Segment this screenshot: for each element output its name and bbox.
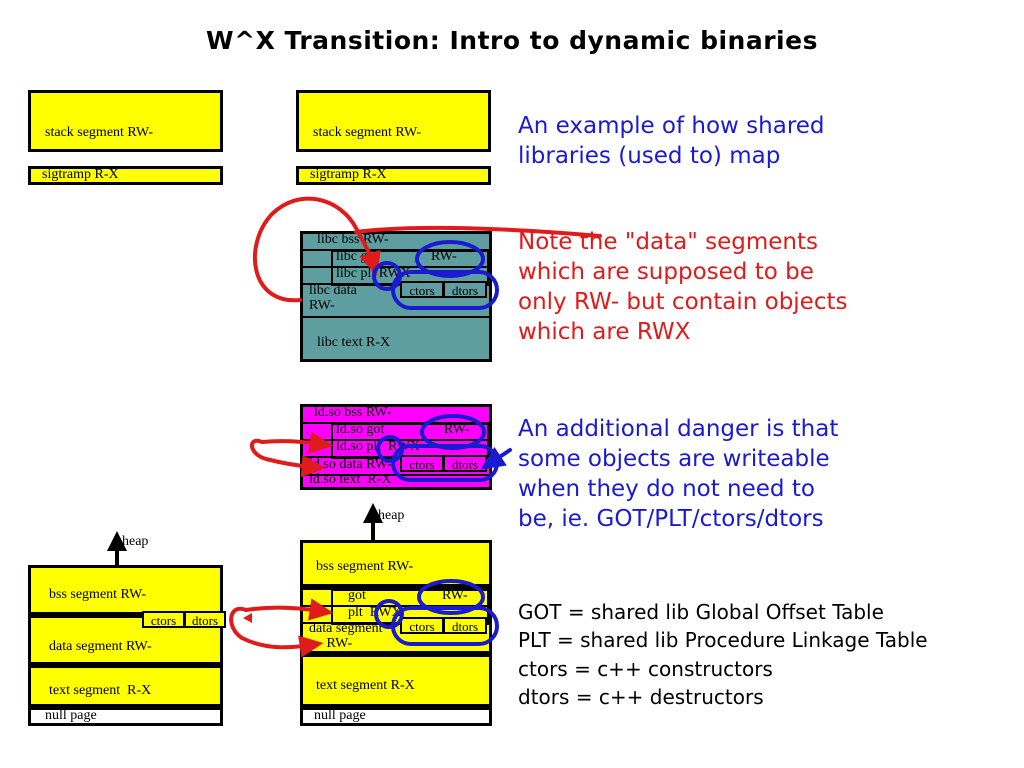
ldso-dtors-box: dtors (443, 455, 487, 472)
note-data-segments: Note the "data" segments which are suppo… (518, 228, 847, 348)
mid-dtors-label: dtors (452, 619, 478, 634)
libc-ctors-box: ctors (400, 281, 444, 298)
mid-sigtramp-block: sigtramp R-X (296, 166, 491, 185)
ldso-text-label: ld.so text R-X (309, 473, 391, 488)
mid-text-segment-label: text segment R-X (316, 679, 415, 694)
left-dtors-box: dtors (184, 611, 226, 628)
libc-dtors-box: dtors (443, 281, 487, 298)
left-text-segment-block: text segment R-X (28, 665, 223, 707)
libc-text-row: libc text R-X (303, 318, 489, 359)
mid-null-page-block: null page (300, 707, 492, 726)
ldso-ctors-box: ctors (400, 455, 444, 472)
mid-data-segment-label: data segment RW- (309, 622, 382, 651)
mid-bss-segment-label: bss segment RW- (316, 560, 413, 575)
libc-data-label: libc data RW- (309, 284, 357, 313)
left-heap-label: heap (122, 534, 148, 550)
left-bss-segment-label: bss segment RW- (49, 588, 146, 603)
left-bss-segment-block: bss segment RW- (28, 565, 223, 615)
left-stack-segment-label: stack segment RW- (45, 126, 153, 141)
legend-abbreviations: GOT = shared lib Global Offset Table PLT… (518, 598, 928, 712)
ldso-data-label: ld.so data RW- (309, 458, 392, 473)
libc-dtors-label: dtors (452, 283, 478, 298)
mid-ctors-label: ctors (409, 619, 434, 634)
left-null-page-label: null page (45, 709, 97, 724)
mid-heap-label: heap (378, 508, 404, 524)
left-text-segment-label: text segment R-X (49, 684, 151, 699)
left-dtors-label: dtors (192, 613, 218, 628)
ldso-bss-label: ld.so bss RW- (314, 406, 391, 421)
ldso-text-row: ld.so text R-X (303, 476, 489, 489)
left-stack-segment-block: stack segment RW- (28, 90, 223, 152)
left-data-marker (243, 613, 252, 623)
mid-sigtramp-label: sigtramp R-X (310, 168, 387, 183)
mid-dtors-box: dtors (443, 617, 487, 634)
mid-bss-segment-block: bss segment RW- (300, 540, 492, 587)
libc-bss-label: libc bss RW- (317, 233, 389, 248)
left-null-page-block: null page (28, 707, 223, 726)
left-ctors-box: ctors (142, 611, 185, 628)
mid-stack-segment-block: stack segment RW- (296, 90, 491, 152)
libc-bss-row: libc bss RW- (303, 234, 489, 251)
note-additional-danger: An additional danger is that some object… (518, 415, 838, 535)
libc-ctors-label: ctors (409, 283, 434, 298)
note-shared-libraries: An example of how shared libraries (used… (518, 112, 825, 172)
ldso-gotplt-outline (331, 423, 489, 459)
mid-null-page-label: null page (314, 709, 366, 724)
left-data-segment-label: data segment RW- (49, 640, 152, 655)
left-sigtramp-block: sigtramp R-X (28, 166, 223, 185)
libc-text-label: libc text R-X (317, 336, 390, 351)
ldso-callout-blue-arrow (492, 450, 510, 462)
mid-stack-segment-label: stack segment RW- (313, 126, 421, 141)
left-sigtramp-label: sigtramp R-X (42, 168, 119, 183)
ldso-ctors-label: ctors (409, 457, 434, 472)
left-ctors-label: ctors (151, 613, 176, 628)
page-title: W^X Transition: Intro to dynamic binarie… (0, 26, 1024, 55)
mid-text-segment-block: text segment R-X (300, 654, 492, 707)
ldso-dtors-label: dtors (452, 457, 478, 472)
mid-ctors-box: ctors (400, 617, 444, 634)
